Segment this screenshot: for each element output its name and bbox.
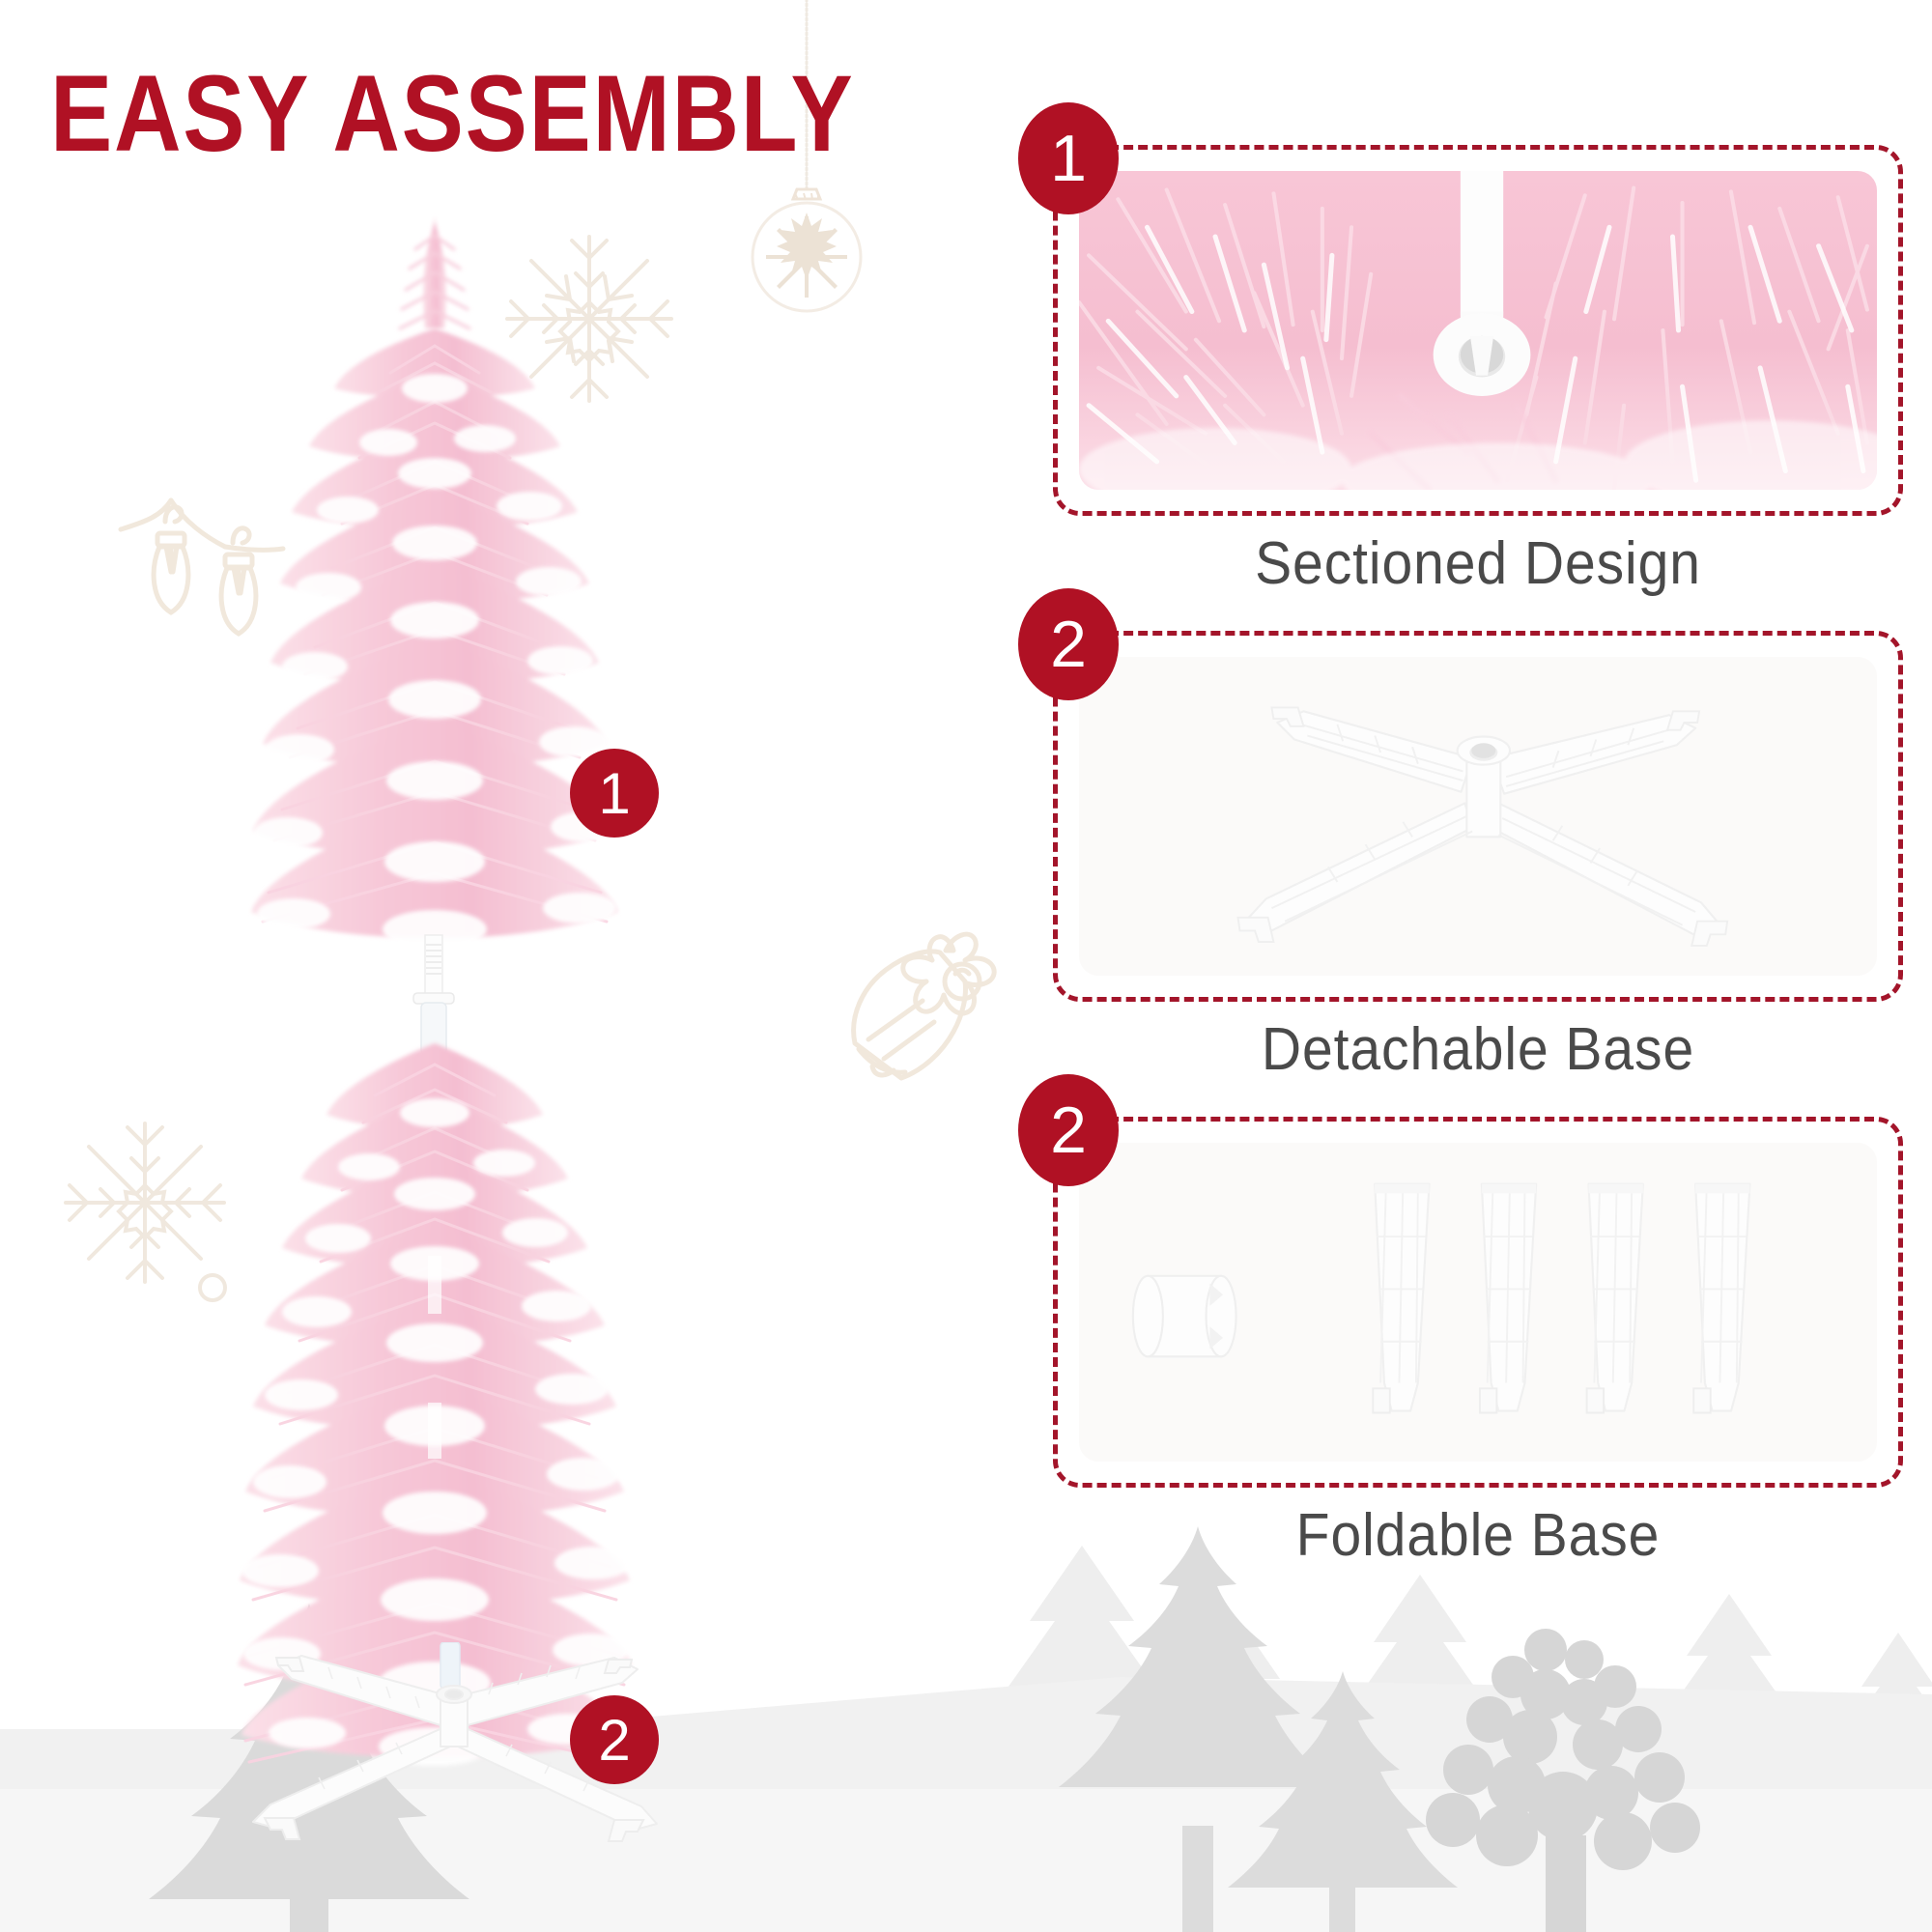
- panel-badge-3: 2: [1018, 1074, 1119, 1186]
- product-tree-illustration: [145, 184, 744, 1777]
- tree-upper-section: [251, 216, 620, 949]
- panel-photo-foldable-base: [1079, 1143, 1877, 1462]
- panel-caption-foldable-base: Foldable Base: [1087, 1501, 1869, 1570]
- feature-panel-list: 1: [1053, 145, 1903, 1603]
- panel-dashed-frame: [1053, 145, 1903, 516]
- tree-marker-1[interactable]: 1: [570, 749, 659, 838]
- panel-badge-2: 2: [1018, 588, 1119, 700]
- panel-badge-1: 1: [1018, 102, 1119, 214]
- panel-caption-detachable-base: Detachable Base: [1087, 1015, 1869, 1084]
- bell-icon: [826, 918, 1029, 1101]
- tree-center-pole: [413, 935, 454, 1055]
- feature-panel-sectioned-design[interactable]: 1: [1053, 145, 1903, 598]
- feature-panel-foldable-base[interactable]: 2: [1053, 1117, 1903, 1570]
- panel-dashed-frame: [1053, 1117, 1903, 1488]
- panel-photo-sectioned-design: [1079, 171, 1877, 490]
- panel-caption-sectioned-design: Sectioned Design: [1087, 529, 1869, 598]
- feature-panel-detachable-base[interactable]: 2: [1053, 631, 1903, 1084]
- panel-photo-detachable-base: [1079, 657, 1877, 976]
- page-title: EASY ASSEMBLY: [50, 60, 854, 168]
- tree-marker-2[interactable]: 2: [570, 1695, 659, 1784]
- infographic-canvas: EASY ASSEMBLY: [0, 0, 1932, 1932]
- panel-dashed-frame: [1053, 631, 1903, 1002]
